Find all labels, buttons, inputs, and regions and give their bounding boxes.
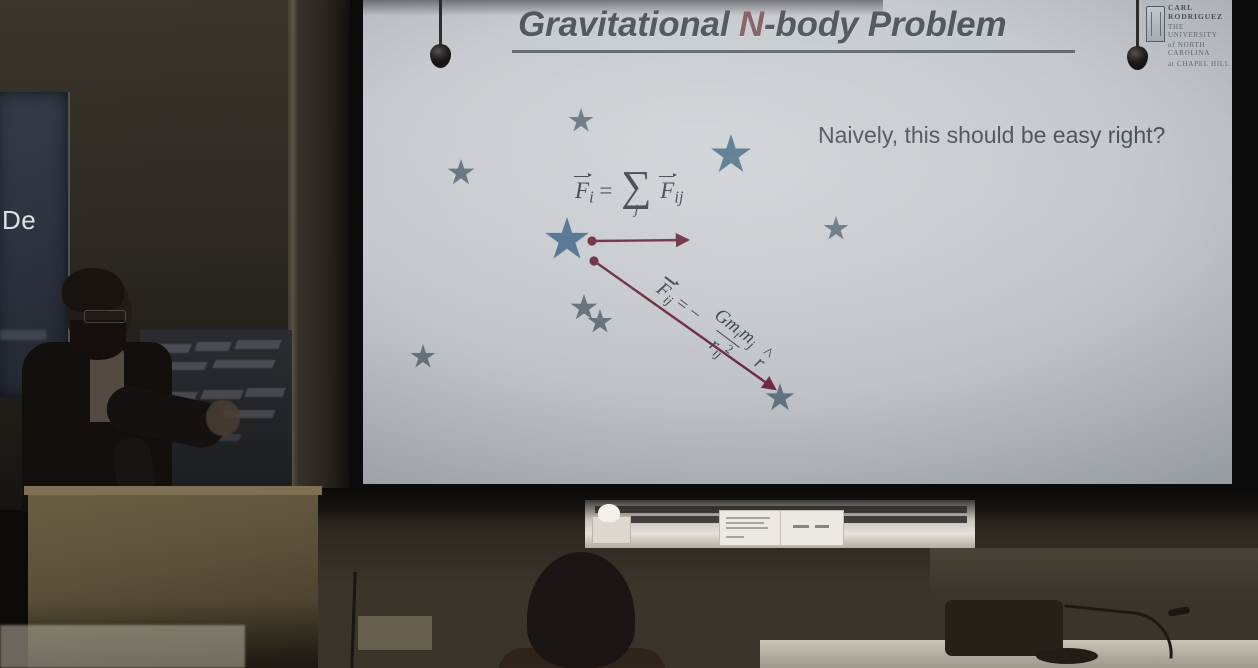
side-display-text: De xyxy=(2,205,36,236)
presenter-glasses xyxy=(84,310,126,323)
equation-net-force: Fi = ∑ j Fij xyxy=(575,168,684,217)
lower-wall-highlight xyxy=(930,548,1258,594)
tissue-puff xyxy=(598,504,620,522)
screenshot-root: De Gravitational N-body Problem xyxy=(0,0,1258,668)
force-arrow-line xyxy=(592,240,688,241)
presenter-hair xyxy=(62,268,124,312)
projection-screen-surface[interactable]: Gravitational N-body Problem CARL RODRIG… xyxy=(363,0,1232,484)
den-sup-2: 2 xyxy=(722,342,735,357)
microphone-base xyxy=(1036,648,1098,664)
eq-sum-lhs-sub: i xyxy=(589,187,594,206)
ledge-sign-right xyxy=(780,510,844,546)
sigma-glyph: ∑ xyxy=(621,168,651,206)
sigma-index: j xyxy=(634,204,638,217)
summation-symbol: ∑ j xyxy=(621,168,651,217)
screen-pull-cord-left[interactable] xyxy=(439,0,442,46)
presenter-beard xyxy=(70,320,126,360)
presenter-silhouette xyxy=(8,272,253,512)
eq-sum-equals: = xyxy=(599,178,612,203)
presenter-hand xyxy=(206,400,240,436)
podium-equipment xyxy=(358,616,432,650)
eq-force-minus: − xyxy=(684,302,705,325)
eq-sum-rhs-symbol: F xyxy=(660,178,674,204)
podium-papers xyxy=(0,625,245,668)
screen-pull-cord-right[interactable] xyxy=(1136,0,1139,48)
chair-back xyxy=(945,600,1063,656)
eq-sum-rhs-sub: ij xyxy=(674,187,683,206)
eq-sum-lhs-symbol: F xyxy=(575,178,589,204)
ledge-sign-left xyxy=(719,510,781,546)
lectern-top xyxy=(24,486,322,495)
force-arrows xyxy=(363,0,1232,484)
